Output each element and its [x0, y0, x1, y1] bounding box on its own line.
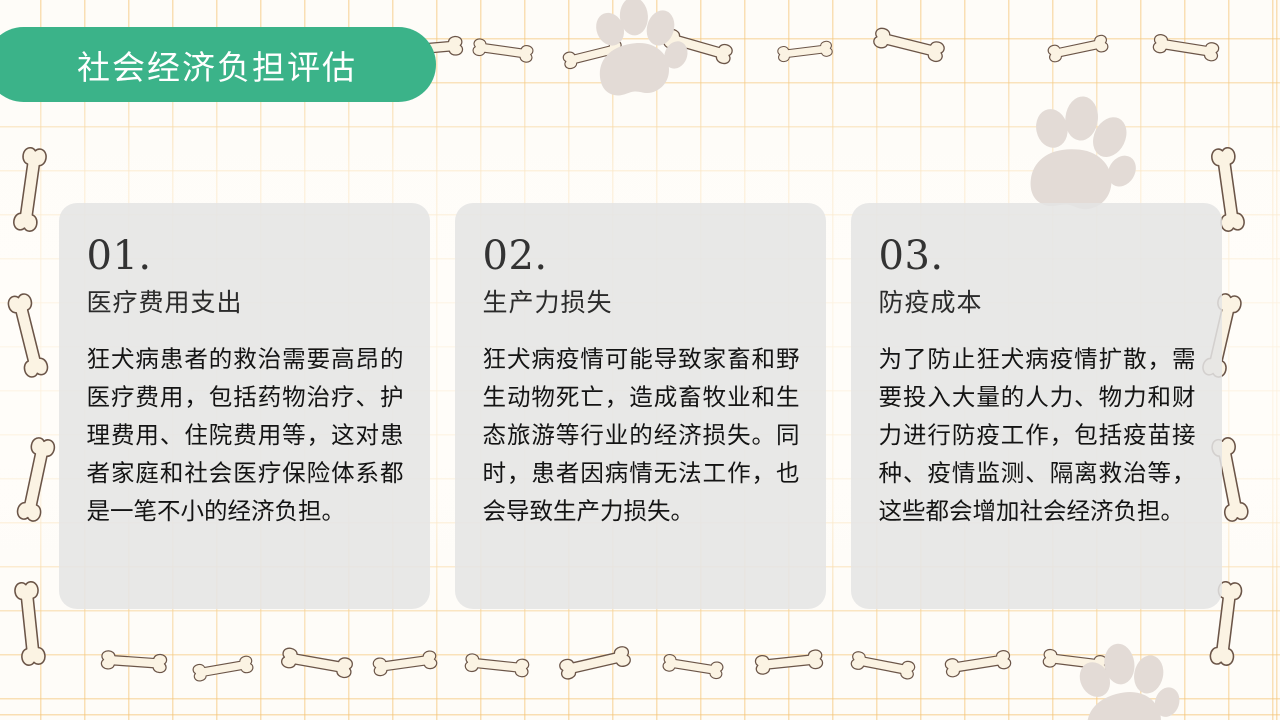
card-body: 为了防止狂犬病疫情扩散，需要投入大量的人力、物力和财力进行防疫工作，包括疫苗接种…: [879, 341, 1196, 531]
card-number: 03.: [879, 235, 1196, 277]
card-title: 医疗费用支出: [87, 283, 404, 319]
page-title: 社会经济负担评估: [77, 41, 357, 89]
card-number: 02.: [483, 235, 800, 277]
card-title: 生产力损失: [483, 283, 800, 319]
card-body: 狂犬病患者的救治需要高昂的医疗费用，包括药物治疗、护理费用、住院费用等，这对患者…: [87, 341, 404, 531]
card-item[interactable]: 02. 生产力损失 狂犬病疫情可能导致家畜和野生动物死亡，造成畜牧业和生态旅游等…: [455, 203, 826, 609]
card-title: 防疫成本: [879, 283, 1196, 319]
card-item[interactable]: 01. 医疗费用支出 狂犬病患者的救治需要高昂的医疗费用，包括药物治疗、护理费用…: [59, 203, 430, 609]
card-number: 01.: [87, 235, 404, 277]
card-list: 01. 医疗费用支出 狂犬病患者的救治需要高昂的医疗费用，包括药物治疗、护理费用…: [0, 203, 1280, 609]
slide-title-banner: 社会经济负担评估: [0, 27, 436, 102]
card-item[interactable]: 03. 防疫成本 为了防止狂犬病疫情扩散，需要投入大量的人力、物力和财力进行防疫…: [851, 203, 1222, 609]
card-body: 狂犬病疫情可能导致家畜和野生动物死亡，造成畜牧业和生态旅游等行业的经济损失。同时…: [483, 341, 800, 531]
